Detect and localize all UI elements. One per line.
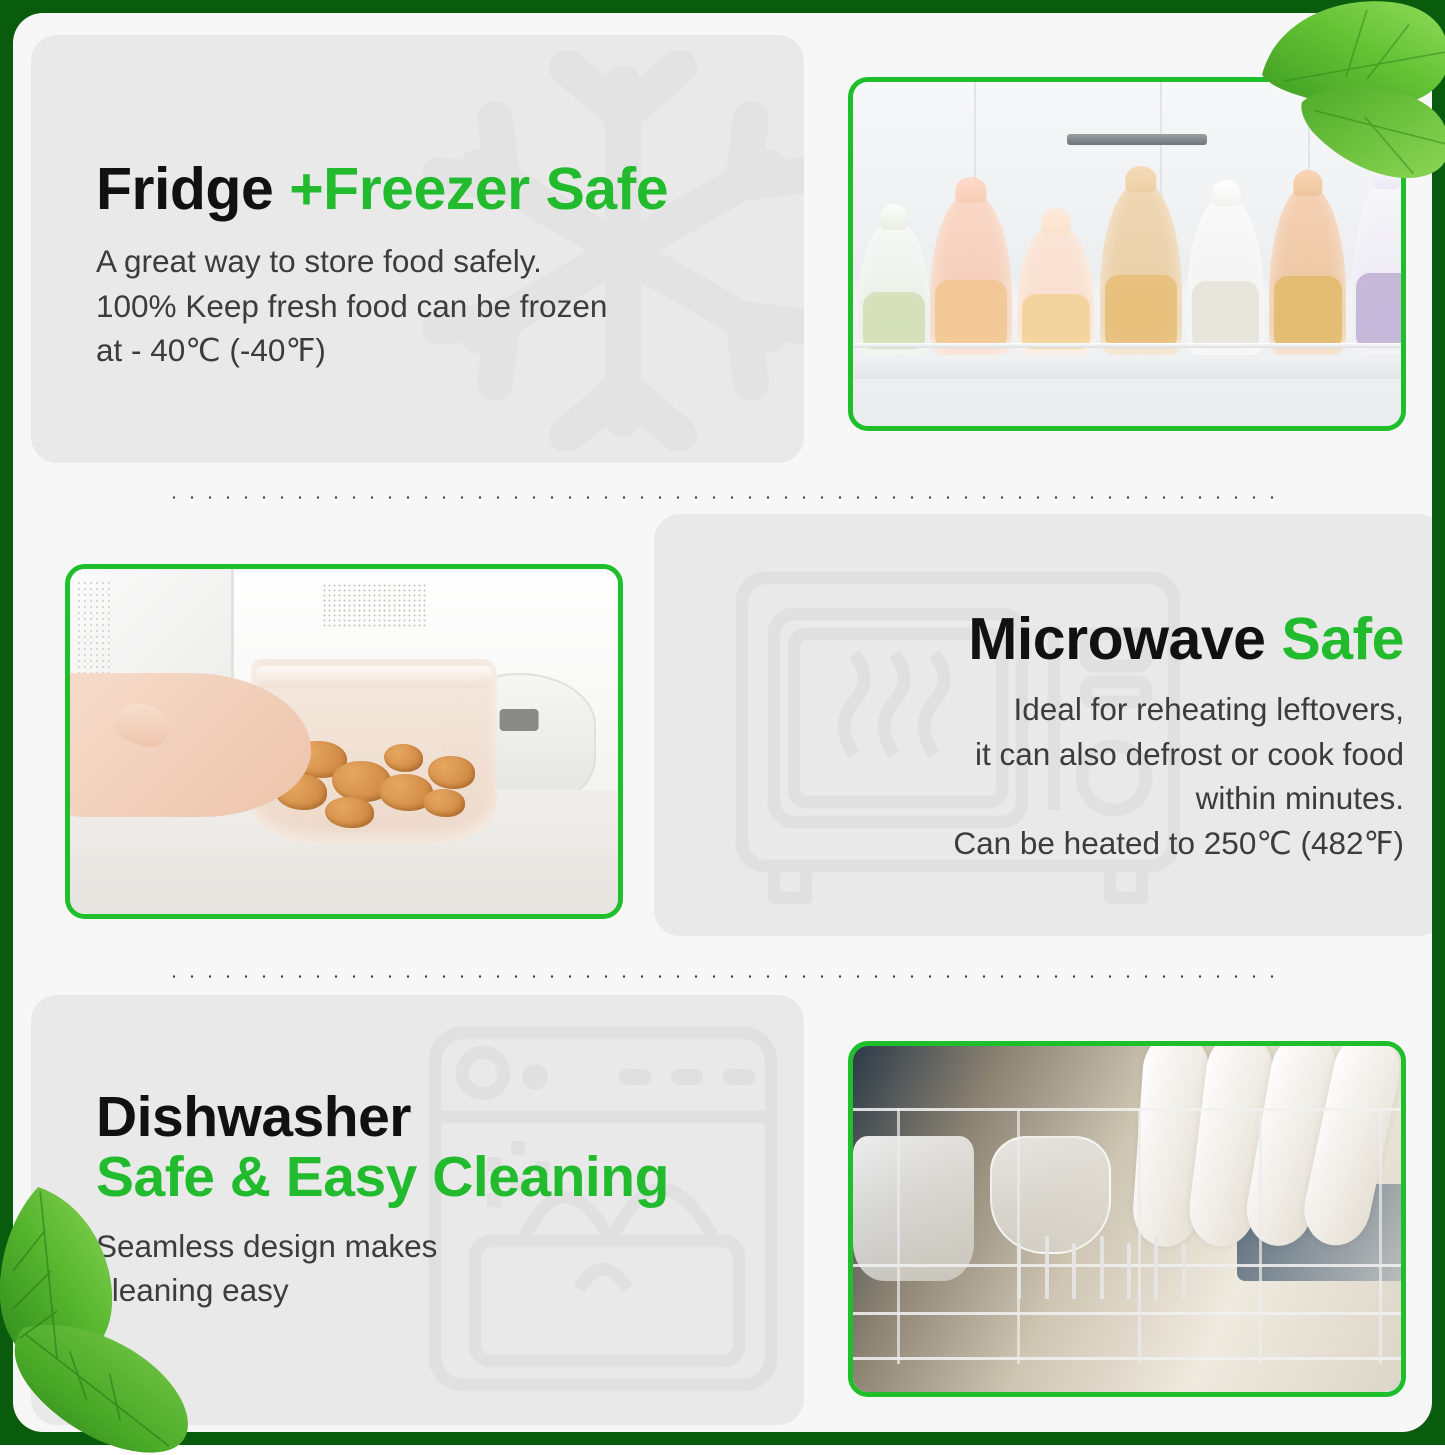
mint-leaf-icon	[0, 1180, 196, 1455]
mint-leaf-icon	[1241, 0, 1445, 185]
panel-dishwasher-photo	[848, 1041, 1406, 1397]
panel-fridge-text: Fridge +Freezer Safe A great way to stor…	[96, 159, 668, 373]
panel-microwave-body: Ideal for reheating leftovers, it can al…	[644, 687, 1404, 866]
dotted-divider	[165, 975, 1283, 978]
panel-fridge-body-line: 100% Keep fresh food can be frozen	[96, 284, 668, 329]
panel-microwave-body-line: it can also defrost or cook food	[644, 732, 1404, 777]
panel-fridge-body: A great way to store food safely. 100% K…	[96, 239, 668, 373]
panel-microwave-heading-green: Safe	[1281, 606, 1404, 672]
panel-microwave-heading-dark: Microwave	[968, 606, 1265, 672]
panel-fridge-body-line: A great way to store food safely.	[96, 239, 668, 284]
panel-fridge-heading-green: +Freezer Safe	[289, 156, 668, 222]
panel-dishwasher-heading-dark: Dishwasher	[96, 1088, 669, 1148]
outer-green-frame: Fridge +Freezer Safe A great way to stor…	[0, 0, 1445, 1445]
dishwasher-rack-image	[853, 1046, 1401, 1392]
panel-microwave-body-line: Can be heated to 250℃ (482℉)	[644, 821, 1404, 866]
panel-fridge-heading: Fridge +Freezer Safe	[96, 159, 668, 221]
microwave-bag-image	[70, 569, 618, 914]
infographic-canvas: Fridge +Freezer Safe A great way to stor…	[13, 13, 1432, 1432]
dotted-divider	[165, 496, 1283, 499]
panel-fridge-body-line: at - 40℃ (-40℉)	[96, 328, 668, 373]
panel-microwave-heading: Microwave Safe	[644, 609, 1404, 671]
panel-microwave-text: Microwave Safe Ideal for reheating lefto…	[644, 609, 1404, 866]
panel-microwave-body-line: within minutes.	[644, 776, 1404, 821]
panel-microwave-photo	[65, 564, 623, 919]
panel-fridge-heading-dark: Fridge	[96, 156, 273, 222]
panel-microwave-body-line: Ideal for reheating leftovers,	[644, 687, 1404, 732]
